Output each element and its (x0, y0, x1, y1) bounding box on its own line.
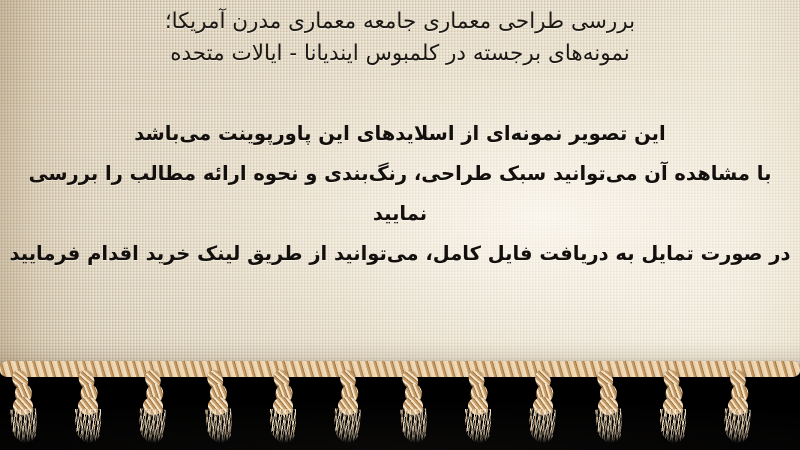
body-line-3: در صورت تمایل به دریافت فایل کامل، می‌تو… (0, 234, 800, 274)
title-line-1: بررسی طراحی معماری جامعه معماری مدرن آمر… (0, 6, 800, 38)
tassel (4, 367, 42, 445)
tassel (134, 367, 172, 445)
bottom-black-band (0, 368, 800, 450)
tassel-skirt (75, 409, 101, 443)
tassel-skirt (333, 408, 361, 443)
tassel (394, 367, 432, 445)
title-line-2: نمونه‌های برجسته در کلمبوس ایندیانا - ای… (0, 38, 800, 70)
tassel (199, 367, 237, 445)
tassel-skirt (465, 409, 491, 443)
tassel (329, 367, 367, 445)
tassel-skirt (528, 408, 556, 443)
tassel-skirt (723, 408, 751, 443)
slide-title: بررسی طراحی معماری جامعه معماری مدرن آمر… (0, 6, 800, 70)
slide-body: این تصویر نمونه‌ای از اسلایدهای این پاور… (0, 114, 800, 274)
tassel (461, 368, 495, 444)
tassel-skirt (660, 409, 686, 443)
slide-canvas: بررسی طراحی معماری جامعه معماری مدرن آمر… (0, 0, 800, 450)
tassel (589, 367, 627, 445)
body-line-1: این تصویر نمونه‌ای از اسلایدهای این پاور… (0, 114, 800, 154)
tassel (71, 368, 105, 444)
body-line-2: با مشاهده آن می‌توانید سبک طراحی، رنگ‌بن… (0, 154, 800, 234)
tassel (266, 368, 300, 444)
tassel-skirt (138, 408, 166, 443)
tassel-skirt (270, 409, 296, 443)
tassel-skirt (10, 408, 38, 443)
tassel (524, 367, 562, 445)
tassel (656, 368, 690, 444)
tassel-skirt (400, 408, 428, 443)
tassel (719, 367, 757, 445)
tassel-skirt (205, 408, 233, 443)
tassel-skirt (595, 408, 623, 443)
tassel-fringe (0, 368, 800, 450)
